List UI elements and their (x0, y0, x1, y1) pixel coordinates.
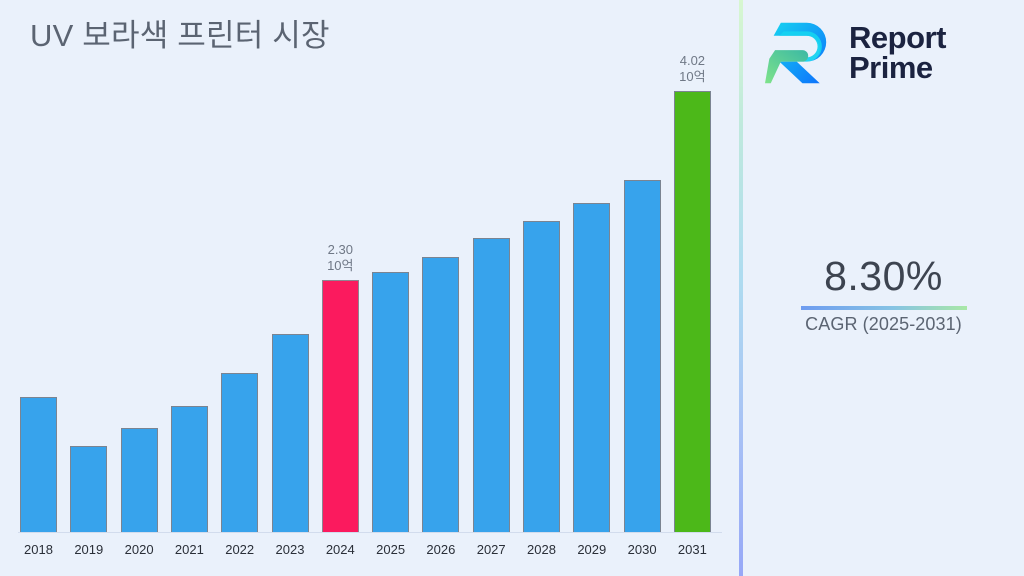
x-axis-label-2030: 2030 (614, 542, 671, 557)
bar-2024[interactable] (322, 280, 359, 532)
cagr-block: 8.30% CAGR (2025-2031) (743, 253, 1024, 335)
bar-2028[interactable] (523, 221, 560, 532)
bar-2021[interactable] (171, 406, 208, 532)
bar-2025[interactable] (372, 272, 409, 532)
logo-wordmark-line1: Report (849, 23, 946, 53)
bar-2018[interactable] (20, 397, 57, 532)
x-axis-label-2024: 2024 (312, 542, 369, 557)
logo-wordmark: Report Prime (849, 23, 946, 84)
report-prime-logo: Report Prime (765, 12, 1005, 94)
x-axis-label-2018: 2018 (10, 542, 67, 557)
bar-2030[interactable] (624, 180, 661, 532)
bar-2029[interactable] (573, 203, 610, 532)
x-axis-label-2025: 2025 (362, 542, 419, 557)
bar-2027[interactable] (473, 238, 510, 532)
x-axis-label-2029: 2029 (563, 542, 620, 557)
cagr-value: 8.30% (743, 253, 1024, 300)
bar-2022[interactable] (221, 373, 258, 532)
x-axis-label-2019: 2019 (60, 542, 117, 557)
bar-value-number-2031: 4.02 (664, 53, 721, 69)
bar-chart-plot-area: 2018201920202021202220232.3010억202420252… (0, 0, 741, 576)
bar-2019[interactable] (70, 446, 107, 532)
x-axis-label-2021: 2021 (161, 542, 218, 557)
report-prime-logo-mark (765, 17, 837, 89)
x-axis-label-2020: 2020 (111, 542, 168, 557)
bar-2031[interactable] (674, 91, 711, 532)
bar-value-number-2024: 2.30 (312, 242, 369, 258)
bar-2023[interactable] (272, 334, 309, 532)
bar-2026[interactable] (422, 257, 459, 532)
logo-wordmark-line2: Prime (849, 53, 946, 83)
chart-panel: UV 보라색 프린터 시장 2018201920202021202220232.… (0, 0, 741, 576)
bar-value-unit-2024: 10억 (312, 258, 369, 274)
bar-2020[interactable] (121, 428, 158, 532)
x-axis-label-2026: 2026 (412, 542, 469, 557)
bar-value-label-2031: 4.0210억 (664, 53, 721, 85)
x-axis-label-2022: 2022 (211, 542, 268, 557)
x-axis-baseline (18, 532, 722, 533)
bar-value-unit-2031: 10억 (664, 69, 721, 85)
cagr-divider-rule (801, 306, 967, 310)
x-axis-label-2028: 2028 (513, 542, 570, 557)
x-axis-label-2027: 2027 (463, 542, 520, 557)
bar-value-label-2024: 2.3010억 (312, 242, 369, 274)
cagr-caption: CAGR (2025-2031) (743, 314, 1024, 335)
x-axis-label-2023: 2023 (262, 542, 319, 557)
side-panel: Report Prime 8.30% CAGR (2025-2031) (743, 0, 1024, 576)
x-axis-label-2031: 2031 (664, 542, 721, 557)
